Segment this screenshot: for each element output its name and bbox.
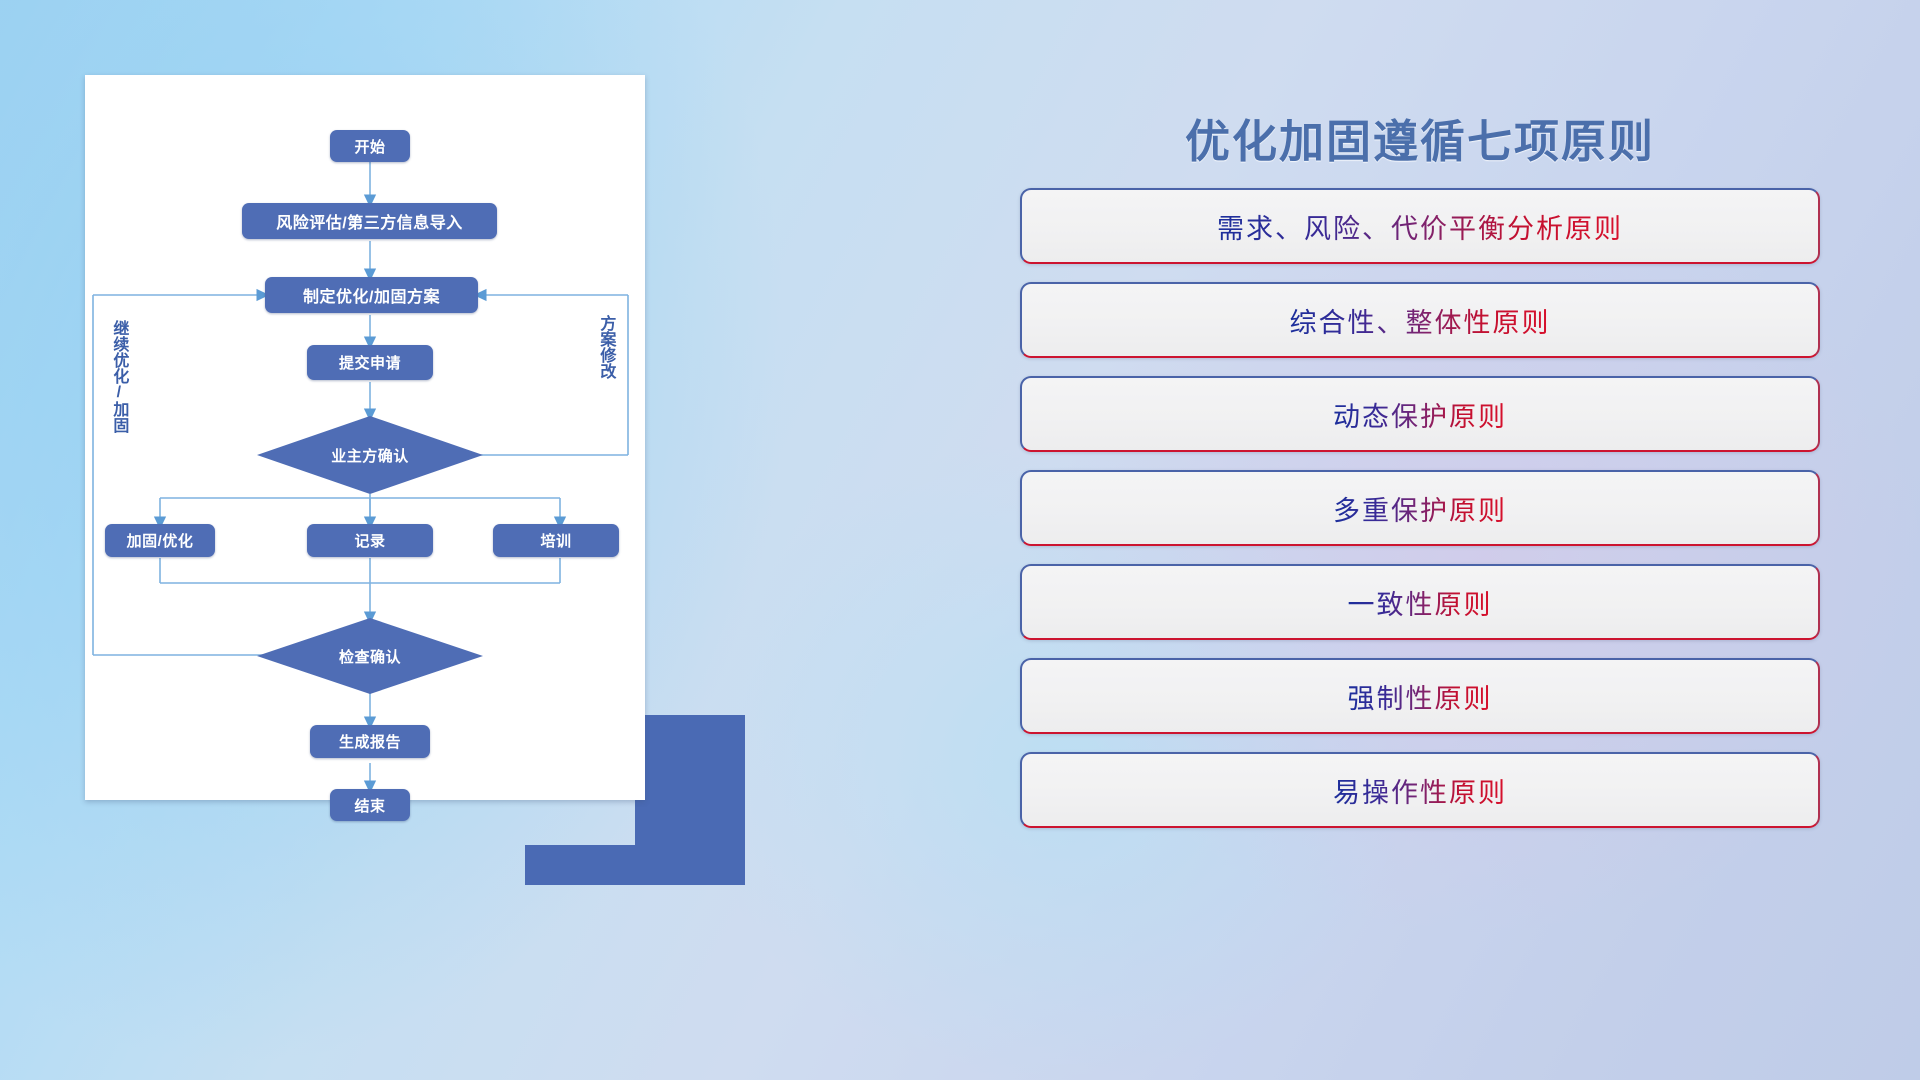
principle-item[interactable]: 需求、风险、代价平衡分析原则: [1020, 188, 1820, 264]
principle-label: 需求、风险、代价平衡分析原则: [1217, 207, 1623, 246]
flow-node-risk-assessment[interactable]: 风险评估/第三方信息导入: [242, 203, 497, 239]
flow-node-submit-application[interactable]: 提交申请: [307, 345, 433, 380]
flow-node-record[interactable]: 记录: [307, 524, 433, 557]
card-accent-block-bottom: [525, 845, 745, 885]
principle-label: 动态保护原则: [1333, 395, 1507, 434]
principle-item[interactable]: 综合性、整体性原则: [1020, 282, 1820, 358]
flowchart-card: 开始 风险评估/第三方信息导入 制定优化/加固方案 提交申请 业主方确认 加固/…: [85, 75, 645, 800]
flow-node-label: 结束: [354, 795, 385, 816]
flow-node-label: 制定优化/加固方案: [303, 283, 440, 307]
flow-node-check-confirm[interactable]: 检查确认: [257, 618, 483, 694]
principle-item[interactable]: 易操作性原则: [1020, 752, 1820, 828]
principle-label: 易操作性原则: [1333, 771, 1507, 810]
flowchart-panel: 开始 风险评估/第三方信息导入 制定优化/加固方案 提交申请 业主方确认 加固/…: [85, 75, 660, 810]
flow-node-label: 生成报告: [339, 731, 401, 752]
flow-node-label: 记录: [354, 530, 385, 551]
principle-label: 综合性、整体性原则: [1290, 301, 1551, 340]
principle-item[interactable]: 多重保护原则: [1020, 470, 1820, 546]
principle-label: 强制性原则: [1348, 677, 1493, 716]
flow-node-generate-report[interactable]: 生成报告: [310, 725, 430, 758]
flow-node-make-plan[interactable]: 制定优化/加固方案: [265, 277, 478, 313]
principle-label: 多重保护原则: [1333, 489, 1507, 528]
page-title: 优化加固遵循七项原则: [1020, 105, 1820, 170]
flow-node-training[interactable]: 培训: [493, 524, 619, 557]
flow-node-reinforce[interactable]: 加固/优化: [105, 524, 215, 557]
principle-label: 一致性原则: [1348, 583, 1493, 622]
principle-item[interactable]: 强制性原则: [1020, 658, 1820, 734]
edge-label-continue-optimize: 继续优化/加固: [110, 320, 126, 433]
flow-node-start[interactable]: 开始: [330, 130, 410, 162]
edge-label-plan-revision: 方案修改: [597, 315, 613, 379]
slide-canvas: 开始 风险评估/第三方信息导入 制定优化/加固方案 提交申请 业主方确认 加固/…: [0, 0, 1920, 1080]
flow-node-label: 开始: [354, 136, 385, 157]
flow-node-label: 风险评估/第三方信息导入: [276, 209, 462, 233]
flow-node-end[interactable]: 结束: [330, 789, 410, 821]
flow-node-label: 检查确认: [339, 646, 401, 667]
principles-panel: 优化加固遵循七项原则 需求、风险、代价平衡分析原则 综合性、整体性原则 动态保护…: [1020, 75, 1820, 1015]
flow-node-label: 加固/优化: [127, 530, 194, 551]
flow-node-owner-confirm[interactable]: 业主方确认: [257, 416, 483, 494]
flow-node-label: 培训: [540, 530, 571, 551]
flow-node-label: 业主方确认: [331, 445, 409, 466]
principle-item[interactable]: 一致性原则: [1020, 564, 1820, 640]
principles-list: 需求、风险、代价平衡分析原则 综合性、整体性原则 动态保护原则 多重保护原则 一…: [1020, 188, 1820, 846]
principle-item[interactable]: 动态保护原则: [1020, 376, 1820, 452]
flow-node-label: 提交申请: [339, 352, 401, 373]
